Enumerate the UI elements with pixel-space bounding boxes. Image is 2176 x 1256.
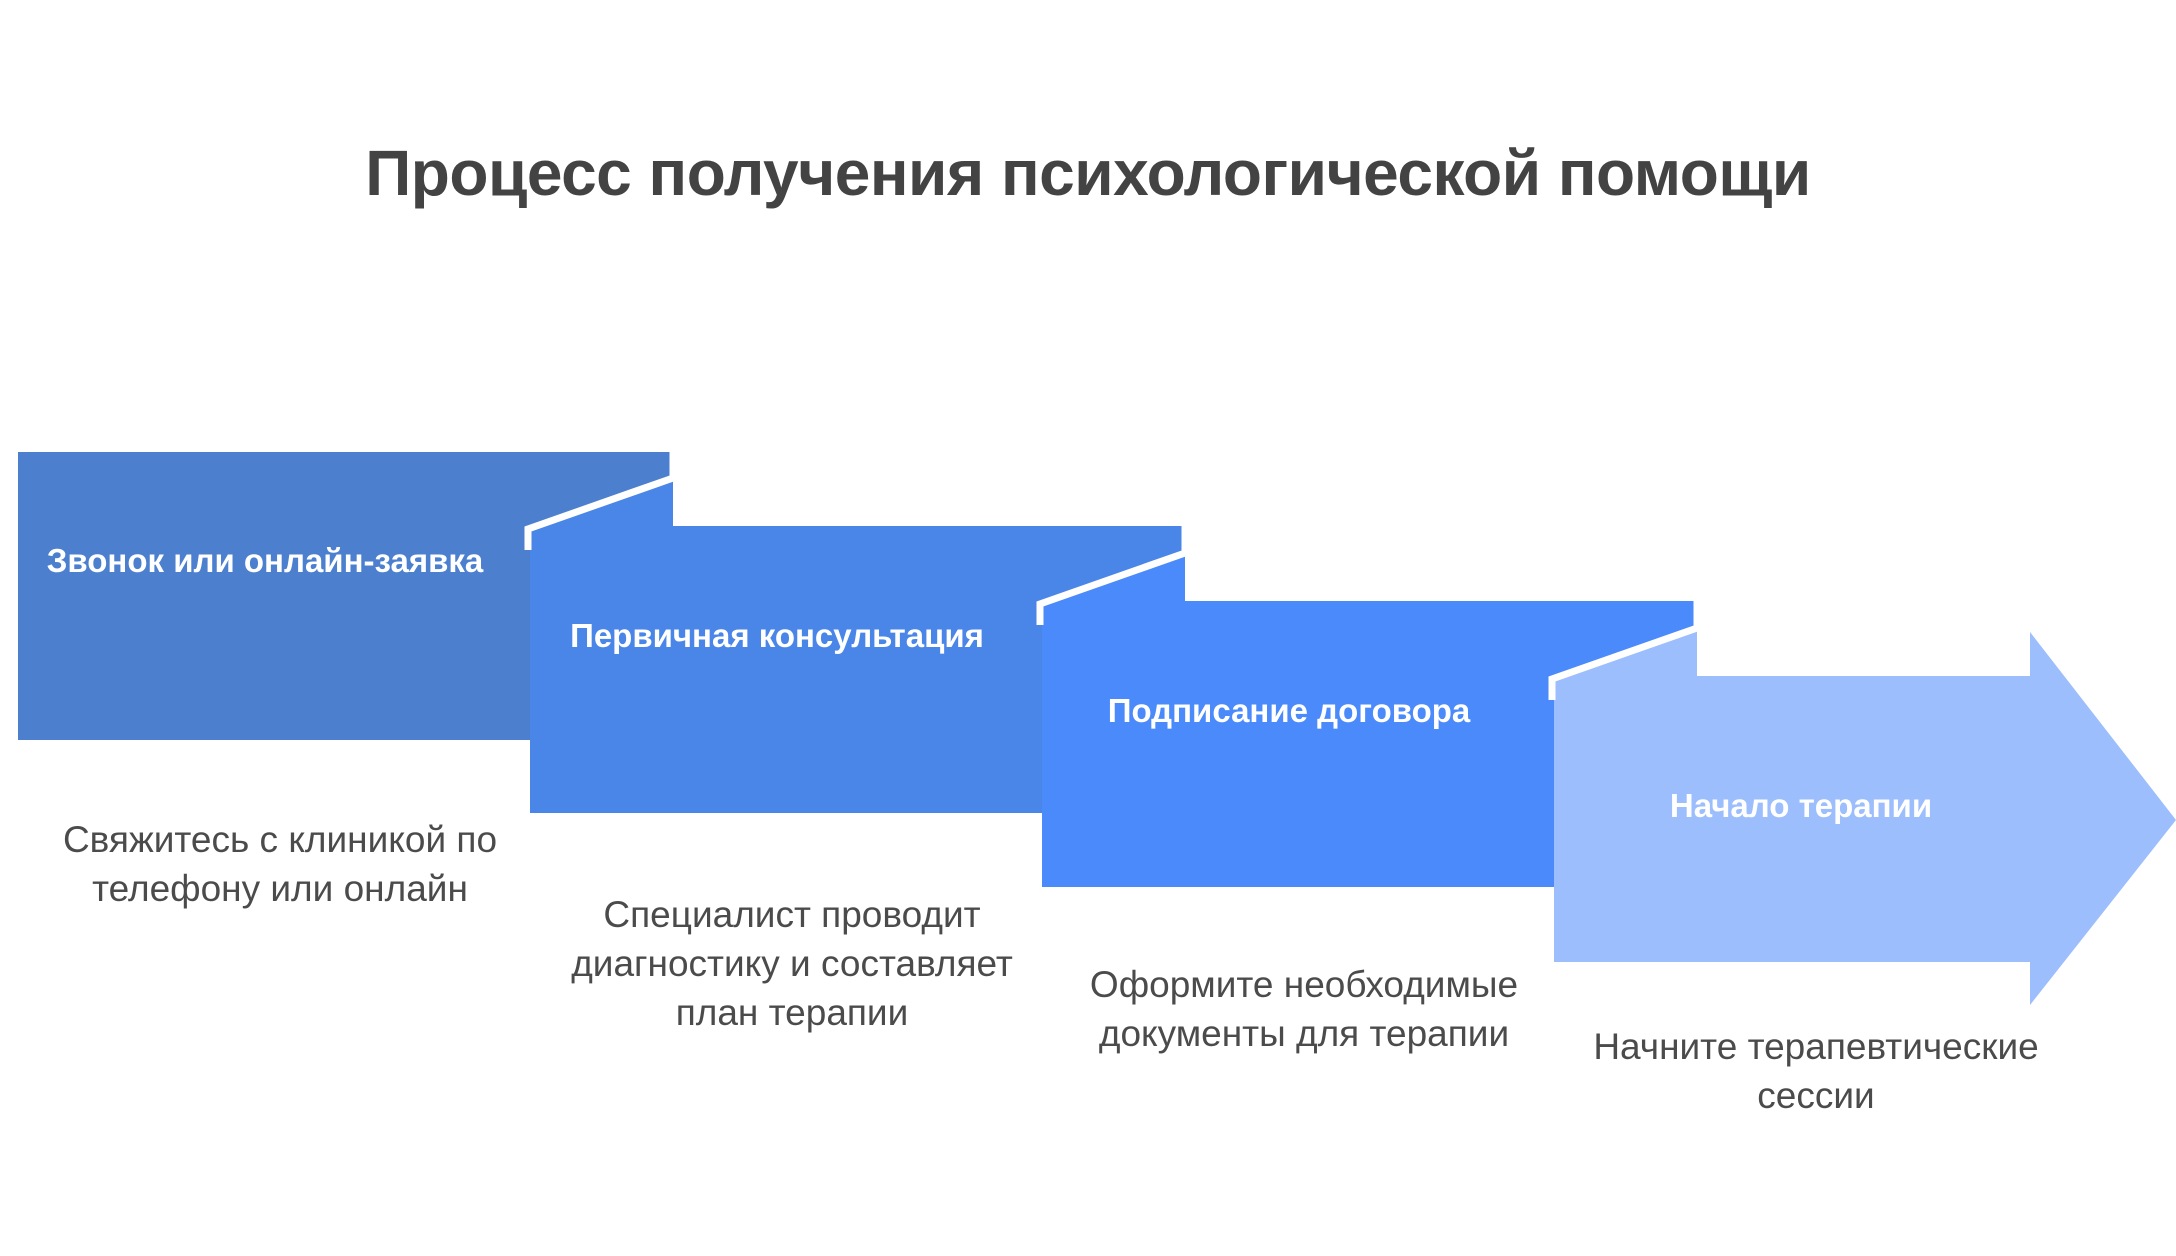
step-3-caption: Оформите необходимые документы для терап… [1079, 960, 1529, 1058]
process-diagram: Звонок или онлайн-заявка Первичная консу… [0, 0, 2176, 1256]
step-2-caption: Специалист проводит диагностику и состав… [567, 890, 1017, 1038]
step-4-caption: Начните терапевтические сессии [1591, 1022, 2041, 1120]
step-1-caption: Свяжитесь с клиникой по телефону или онл… [55, 815, 505, 913]
step-4-arrow-body [1554, 632, 2176, 1005]
step-4-shape[interactable] [1554, 625, 2176, 1005]
